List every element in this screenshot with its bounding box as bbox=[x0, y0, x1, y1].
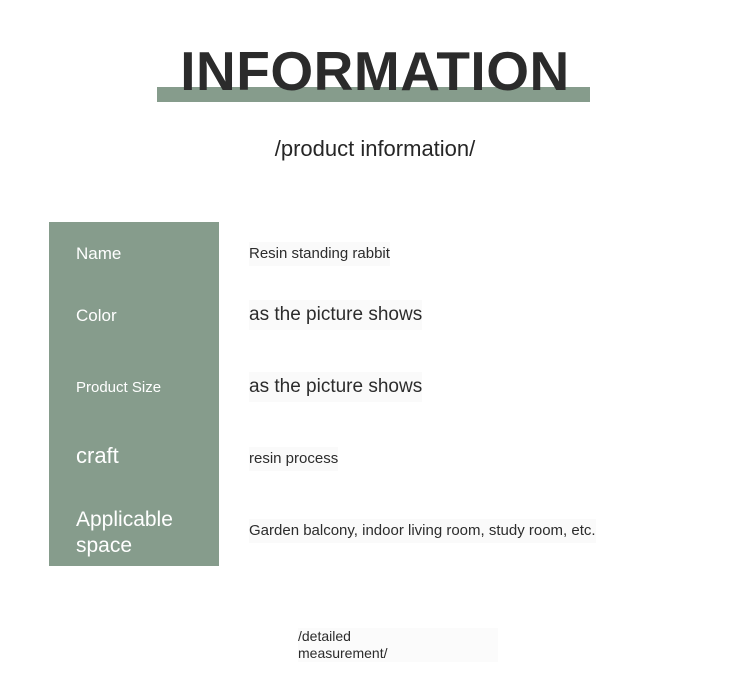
page-subtitle: /product information/ bbox=[0, 133, 750, 165]
spec-label-color: Color bbox=[76, 304, 212, 328]
spec-value-craft: resin process bbox=[249, 447, 338, 471]
spec-label-craft: craft bbox=[76, 442, 212, 470]
spec-value-name: Resin standing rabbit bbox=[249, 242, 390, 266]
page-header: INFORMATION /product information/ bbox=[0, 0, 750, 190]
detailed-measurement-note: /detailed measurement/ bbox=[298, 628, 498, 662]
spec-label-applicable-space: Applicable space bbox=[76, 507, 212, 559]
spec-value-color: as the picture shows bbox=[249, 300, 422, 330]
spec-label-panel: Name Color Product Size craft Applicable… bbox=[49, 222, 219, 566]
spec-value-applicable-space: Garden balcony, indoor living room, stud… bbox=[249, 519, 596, 543]
spec-value-product-size: as the picture shows bbox=[249, 372, 422, 402]
product-spec-table: Name Color Product Size craft Applicable… bbox=[49, 222, 669, 566]
title-block: INFORMATION bbox=[0, 40, 750, 110]
spec-label-product-size: Product Size bbox=[76, 377, 212, 399]
spec-label-name: Name bbox=[76, 242, 212, 266]
page-title: INFORMATION bbox=[0, 40, 750, 102]
